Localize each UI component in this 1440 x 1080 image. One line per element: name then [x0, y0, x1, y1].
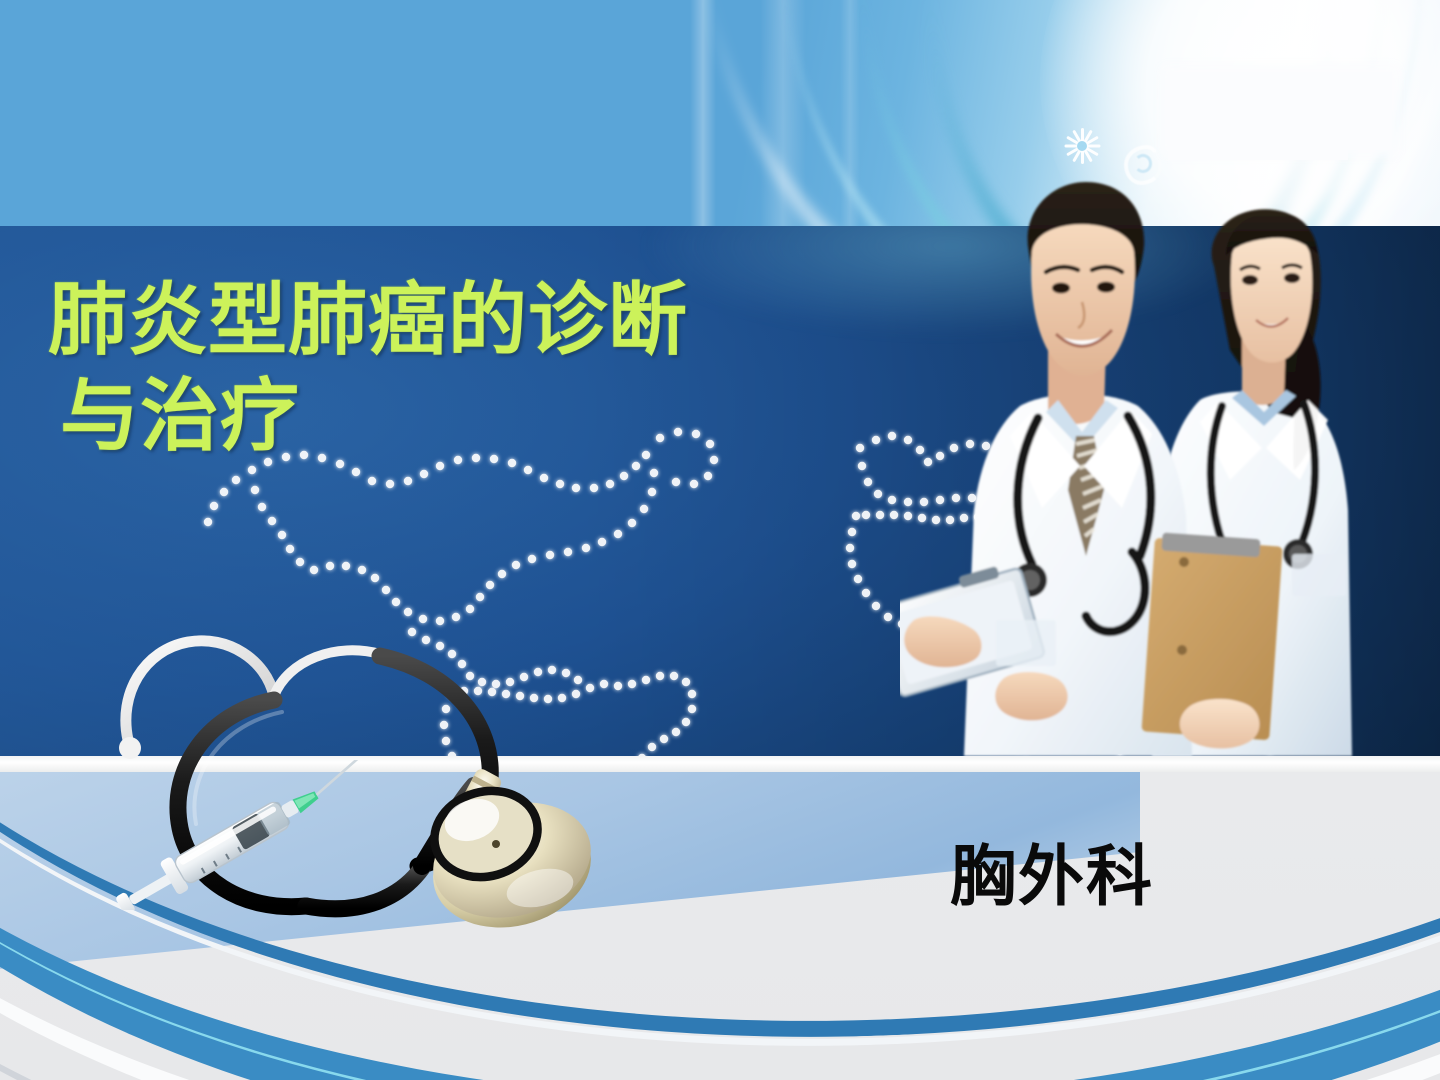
top-streak	[690, 0, 716, 226]
title-line-1: 肺炎型肺癌的诊断	[48, 272, 808, 368]
slide-title: 肺炎型肺癌的诊断 与治疗	[48, 272, 808, 464]
syringe-illustration	[95, 760, 395, 910]
presentation-slide: 肺炎型肺癌的诊断 与治疗	[0, 0, 1440, 1080]
title-line-2: 与治疗	[48, 368, 808, 464]
white-logo-cover-patch	[1168, 72, 1392, 150]
department-subtitle: 胸外科	[950, 838, 1154, 914]
two-doctors-photo	[900, 150, 1370, 756]
